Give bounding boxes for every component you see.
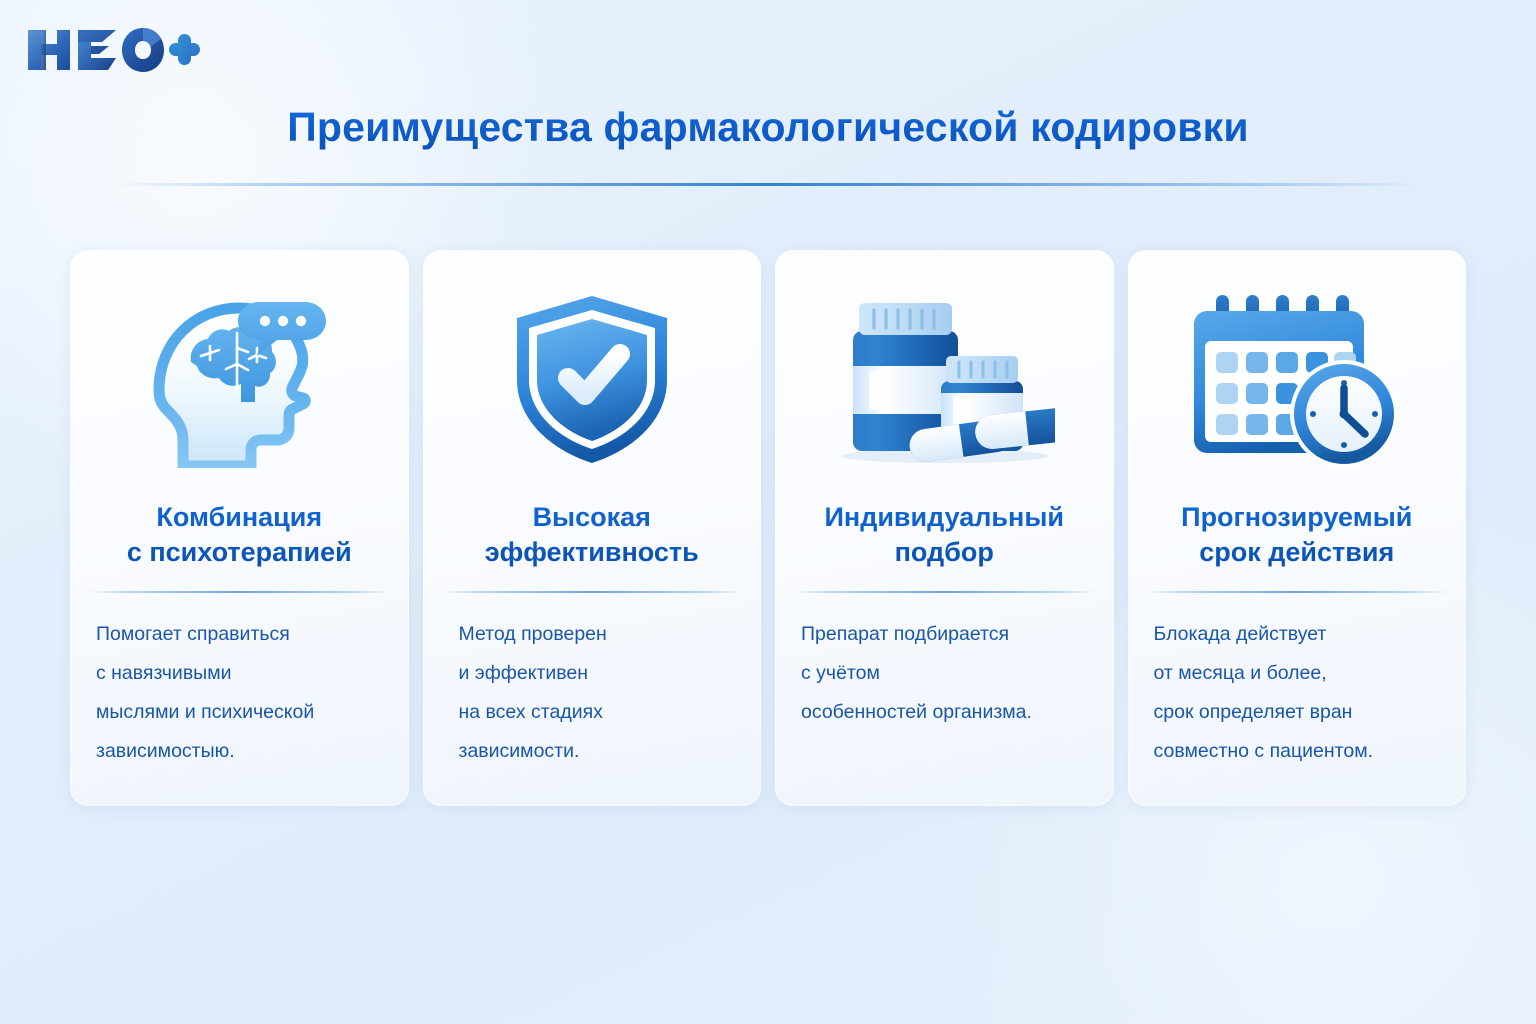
card-heading: Высокая эффективность (485, 500, 699, 569)
card-divider (1146, 591, 1449, 593)
card-icon-slot (1188, 284, 1406, 474)
title-block: Преимущества фармакологической кодировки (0, 104, 1536, 151)
card-body-text: Блокада действует от месяца и более, сро… (1146, 615, 1449, 771)
brand-logo[interactable] (22, 22, 202, 78)
title-divider (115, 183, 1421, 186)
card-heading: Комбинация с психотерапией (127, 500, 352, 569)
benefit-card[interactable]: Комбинация с психотерапией Помогает спра… (70, 250, 409, 806)
card-icon-slot (147, 284, 332, 474)
benefit-card[interactable]: Высокая эффективность Метод проверен и э… (423, 250, 762, 806)
benefit-card-row: Комбинация с психотерапией Помогает спра… (70, 250, 1466, 806)
head-brain-speech-bubble-icon (147, 290, 332, 468)
card-body-text: Метод проверен и эффективен на всех стад… (441, 615, 744, 771)
card-heading: Индивидуальный подбор (824, 500, 1064, 569)
card-icon-slot (507, 284, 677, 474)
shield-check-icon (507, 292, 677, 467)
benefit-card[interactable]: Прогнозируемый срок действия Блокада дей… (1128, 250, 1467, 806)
calendar-clock-icon (1188, 289, 1406, 469)
card-body-text: Помогает справиться с навязчивыми мыслям… (88, 615, 391, 771)
page-title: Преимущества фармакологической кодировки (0, 104, 1536, 151)
card-heading: Прогнозируемый срок действия (1181, 500, 1412, 569)
card-divider (793, 591, 1096, 593)
card-divider (88, 591, 391, 593)
card-body-text: Препарат подбирается с учётом особенност… (793, 615, 1096, 732)
neo-plus-logo-icon (22, 22, 202, 78)
card-divider (441, 591, 744, 593)
pill-bottles-capsules-icon (833, 293, 1055, 465)
card-icon-slot (833, 284, 1055, 474)
benefit-card[interactable]: Индивидуальный подбор Препарат подбирает… (775, 250, 1114, 806)
